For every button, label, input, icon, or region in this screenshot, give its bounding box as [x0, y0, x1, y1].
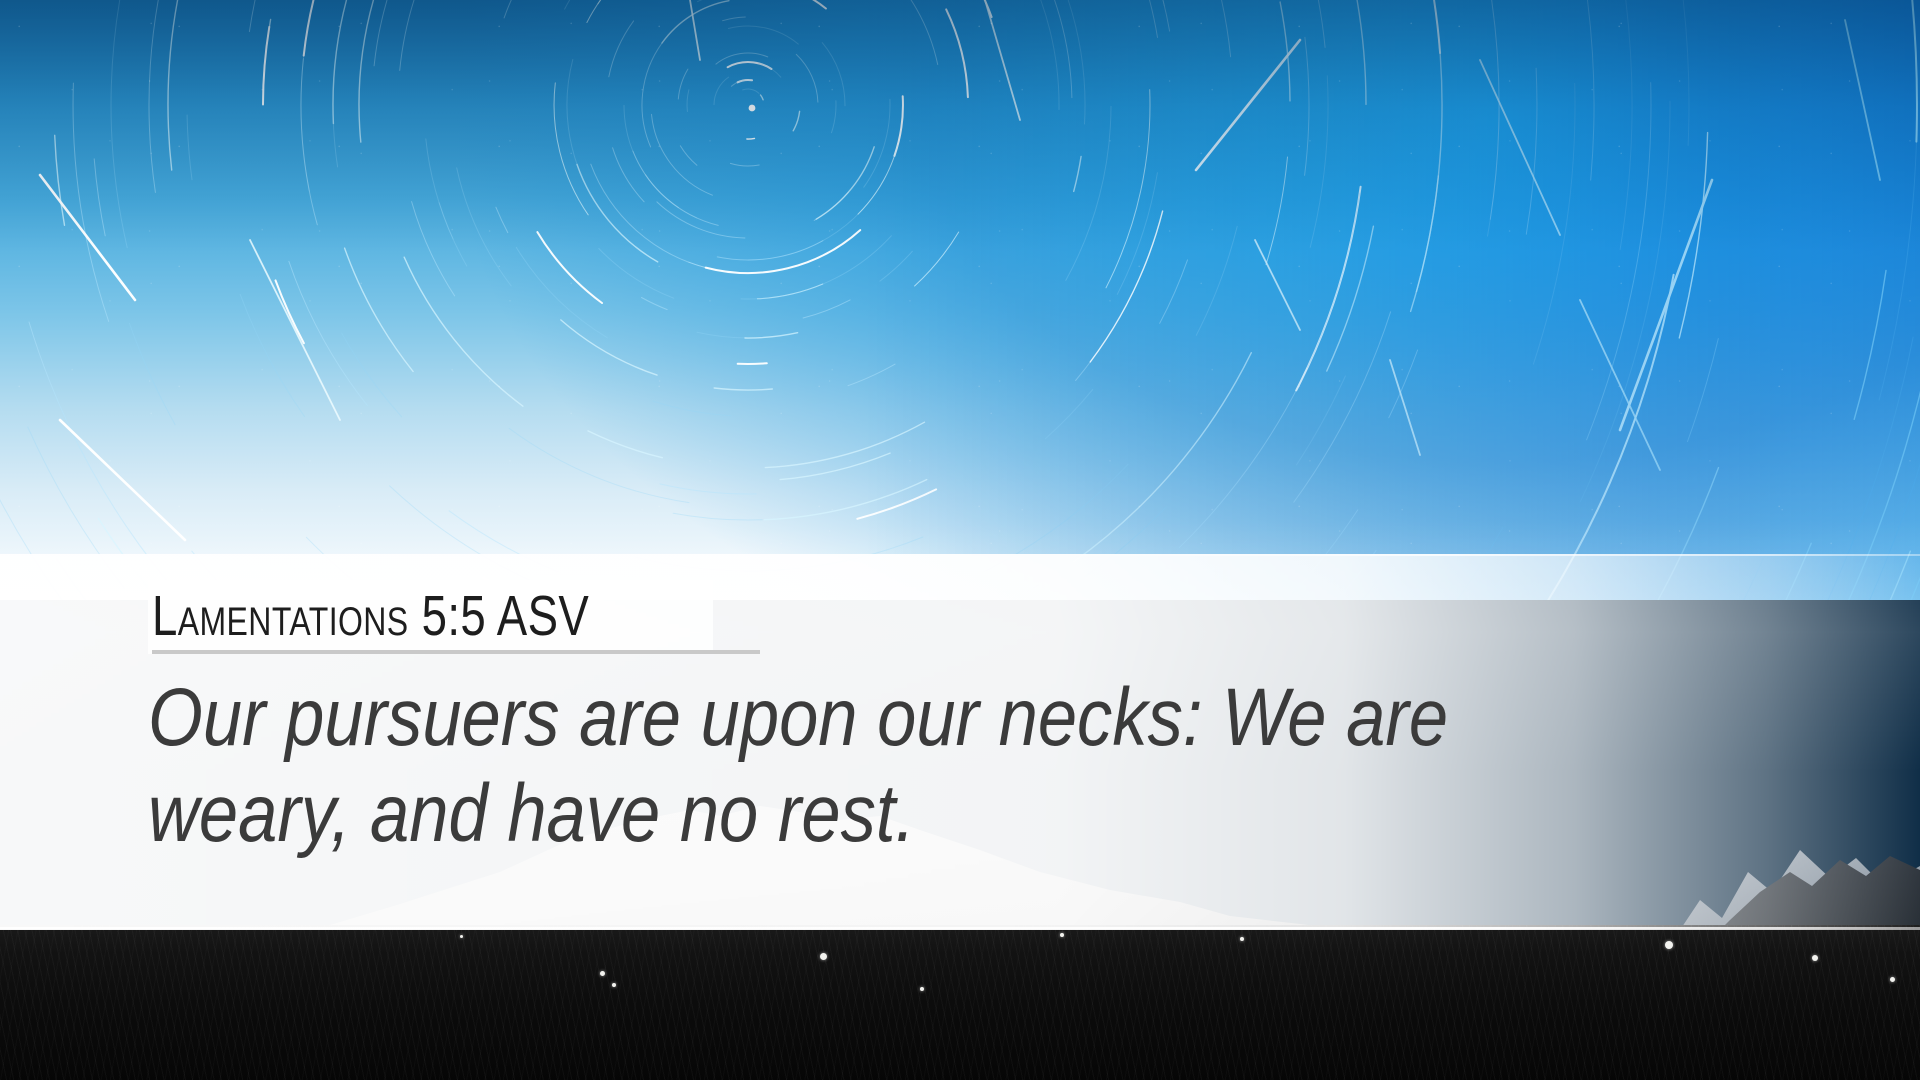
- verse-text-block: Lamentations 5:5 ASV Our pursuers are up…: [148, 580, 1768, 862]
- flower-speck: [820, 953, 827, 960]
- flower-speck: [1060, 933, 1064, 937]
- grass-field: [0, 925, 1920, 1080]
- reference-underline: [152, 650, 760, 654]
- verse-image-canvas: Lamentations 5:5 ASV Our pursuers are up…: [0, 0, 1920, 1080]
- flower-speck: [1890, 977, 1895, 982]
- flower-speck: [600, 971, 605, 976]
- reference-highlight: Lamentations 5:5 ASV: [148, 580, 713, 654]
- grass-texture: [0, 925, 1920, 1080]
- star-trail-sky: [0, 0, 1920, 600]
- flower-speck: [612, 983, 616, 987]
- flower-speck: [460, 935, 463, 938]
- flower-speck: [920, 987, 924, 991]
- flower-speck: [1240, 937, 1244, 941]
- flower-speck: [1812, 955, 1818, 961]
- star-noise: [0, 0, 1920, 600]
- band-bottom-divider: [0, 927, 1920, 930]
- verse-reference: Lamentations 5:5 ASV: [152, 584, 589, 648]
- verse-text: Our pursuers are upon our necks: We are …: [148, 670, 1593, 862]
- flower-speck: [1665, 941, 1673, 949]
